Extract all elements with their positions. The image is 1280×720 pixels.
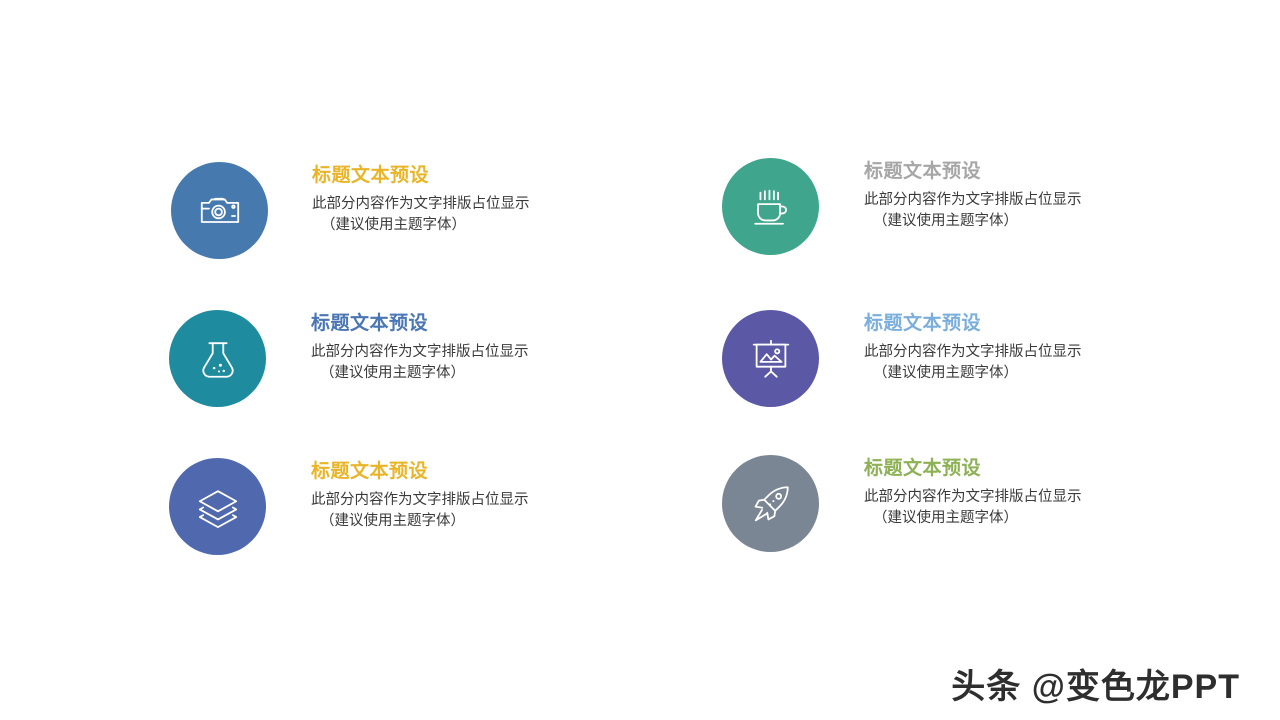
rocket-icon-circle[interactable] — [722, 455, 819, 552]
feature-title: 标题文本预设 — [312, 164, 530, 188]
camera-icon — [197, 188, 243, 234]
layers-icon-circle[interactable] — [169, 458, 266, 555]
presentation-icon-circle[interactable] — [722, 310, 819, 407]
feature-desc-line-2: （建议使用主题字体） — [864, 211, 1082, 232]
feature-item-flask[interactable]: 标题文本预设 此部分内容作为文字排版占位显示 （建议使用主题字体） — [169, 310, 529, 407]
coffee-cup-icon — [748, 184, 794, 230]
feature-title: 标题文本预设 — [311, 460, 529, 484]
feature-item-rocket[interactable]: 标题文本预设 此部分内容作为文字排版占位显示 （建议使用主题字体） — [722, 455, 1082, 552]
rocket-icon — [748, 481, 794, 527]
feature-item-layers[interactable]: 标题文本预设 此部分内容作为文字排版占位显示 （建议使用主题字体） — [169, 458, 529, 555]
coffee-icon-circle[interactable] — [722, 158, 819, 255]
feature-desc-line-1: 此部分内容作为文字排版占位显示 — [311, 342, 529, 363]
layers-icon — [195, 484, 241, 530]
feature-desc-line-1: 此部分内容作为文字排版占位显示 — [864, 190, 1082, 211]
feature-item-presentation[interactable]: 标题文本预设 此部分内容作为文字排版占位显示 （建议使用主题字体） — [722, 310, 1082, 407]
feature-title: 标题文本预设 — [311, 312, 529, 336]
presentation-screen-icon — [748, 336, 794, 382]
feature-text-layers: 标题文本预设 此部分内容作为文字排版占位显示 （建议使用主题字体） — [311, 458, 529, 532]
feature-text-rocket: 标题文本预设 此部分内容作为文字排版占位显示 （建议使用主题字体） — [864, 455, 1082, 529]
feature-title: 标题文本预设 — [864, 160, 1082, 184]
feature-desc-line-2: （建议使用主题字体） — [864, 508, 1082, 529]
flask-icon-circle[interactable] — [169, 310, 266, 407]
camera-icon-circle[interactable] — [171, 162, 268, 259]
feature-desc-line-1: 此部分内容作为文字排版占位显示 — [864, 342, 1082, 363]
feature-text-camera: 标题文本预设 此部分内容作为文字排版占位显示 （建议使用主题字体） — [312, 162, 530, 236]
feature-desc-line-2: （建议使用主题字体） — [312, 215, 530, 236]
feature-text-coffee: 标题文本预设 此部分内容作为文字排版占位显示 （建议使用主题字体） — [864, 158, 1082, 232]
feature-text-presentation: 标题文本预设 此部分内容作为文字排版占位显示 （建议使用主题字体） — [864, 310, 1082, 384]
feature-item-camera[interactable]: 标题文本预设 此部分内容作为文字排版占位显示 （建议使用主题字体） — [171, 162, 530, 259]
feature-item-coffee[interactable]: 标题文本预设 此部分内容作为文字排版占位显示 （建议使用主题字体） — [722, 158, 1082, 255]
feature-desc-line-2: （建议使用主题字体） — [311, 363, 529, 384]
slide-canvas: 标题文本预设 此部分内容作为文字排版占位显示 （建议使用主题字体） 标题文本预设… — [0, 0, 1280, 720]
feature-title: 标题文本预设 — [864, 457, 1082, 481]
feature-title: 标题文本预设 — [864, 312, 1082, 336]
feature-desc-line-2: （建议使用主题字体） — [311, 511, 529, 532]
feature-desc-line-1: 此部分内容作为文字排版占位显示 — [312, 194, 530, 215]
watermark-text: 头条 @变色龙PPT — [951, 659, 1240, 708]
feature-text-flask: 标题文本预设 此部分内容作为文字排版占位显示 （建议使用主题字体） — [311, 310, 529, 384]
feature-desc-line-2: （建议使用主题字体） — [864, 363, 1082, 384]
feature-desc-line-1: 此部分内容作为文字排版占位显示 — [311, 490, 529, 511]
feature-desc-line-1: 此部分内容作为文字排版占位显示 — [864, 487, 1082, 508]
flask-icon — [195, 336, 241, 382]
